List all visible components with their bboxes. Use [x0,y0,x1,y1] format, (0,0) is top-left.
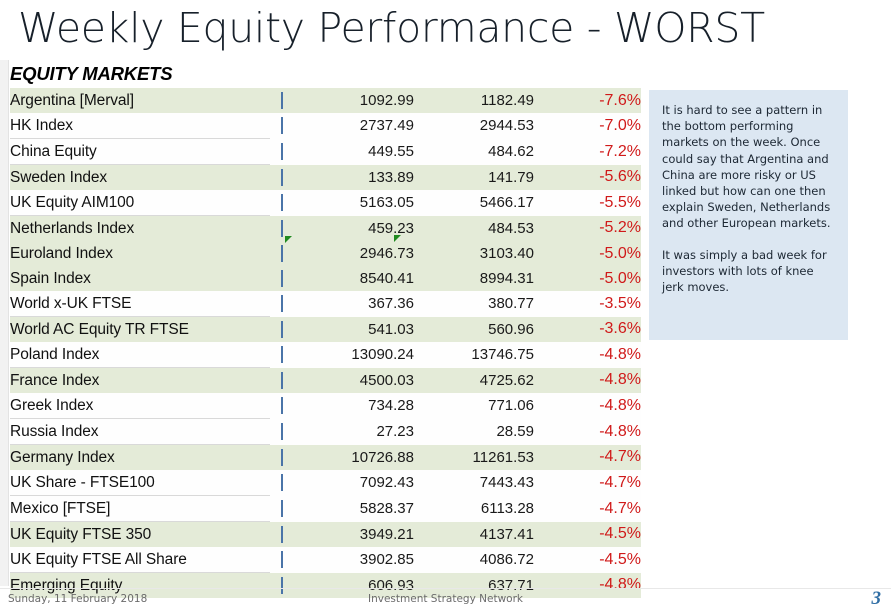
market-name: Spain Index [10,266,270,291]
value-previous: 11261.53 [414,445,534,471]
commentary-paragraph-1: It is hard to see a pattern in the botto… [662,102,835,232]
sparkline-cell [270,241,294,266]
sparkline-tick-icon [281,321,283,338]
sparkline-cell [270,266,294,291]
value-previous: 4725.62 [414,368,534,394]
table-row: Sweden Index133.89141.79-5.6% [10,165,641,191]
sparkline-tick-icon [281,270,283,287]
sparkline-tick-icon [281,449,283,466]
market-name: UK Equity FTSE 350 [10,522,270,548]
value-previous: 6113.28 [414,496,534,522]
market-name: Netherlands Index [10,216,270,242]
sparkline-cell [270,393,294,419]
value-current: 5163.05 [294,190,414,216]
value-previous: 8994.31 [414,266,534,291]
change-percent: -5.2% [534,216,641,242]
change-percent: -4.8% [534,419,641,445]
change-percent: -3.6% [534,317,641,343]
value-previous: 13746.75 [414,342,534,368]
sparkline-tick-icon [281,372,283,389]
footer-divider [0,588,891,589]
table-row: Russia Index27.2328.59-4.8% [10,419,641,445]
value-previous: 2944.53 [414,113,534,139]
sparkline-cell [270,445,294,471]
table-row: UK Equity FTSE All Share3902.854086.72-4… [10,547,641,573]
value-current: 2946.73 [294,241,414,266]
change-percent: -5.5% [534,190,641,216]
market-name: Argentina [Merval] [10,88,270,113]
value-previous: 28.59 [414,419,534,445]
sparkline-tick-icon [281,295,283,312]
equity-markets-table: EQUITY MARKETS Argentina [Merval]1092.99… [10,60,641,598]
table-row: Mexico [FTSE]5828.376113.28-4.7% [10,496,641,522]
value-current: 5828.37 [294,496,414,522]
change-percent: -4.7% [534,470,641,496]
change-percent: -5.6% [534,165,641,191]
sparkline-cell [270,522,294,548]
value-current: 449.55 [294,139,414,165]
sparkline-cell [270,470,294,496]
value-current: 133.89 [294,165,414,191]
market-name: China Equity [10,139,270,165]
market-name: Sweden Index [10,165,270,191]
footer-center-text: Investment Strategy Network [0,593,891,605]
table-row: Greek Index734.28771.06-4.8% [10,393,641,419]
value-previous: 3103.40 [414,241,534,266]
market-name: UK Equity FTSE All Share [10,547,270,573]
change-percent: -3.5% [534,291,641,317]
sparkline-cell [270,113,294,139]
value-current: 4500.03 [294,368,414,394]
table-row: Poland Index13090.2413746.75-4.8% [10,342,641,368]
table-header-label: EQUITY MARKETS [10,60,270,88]
value-current: 13090.24 [294,342,414,368]
sparkline-tick-icon [281,551,283,568]
value-current: 3902.85 [294,547,414,573]
change-percent: -5.0% [534,241,641,266]
value-current: 367.36 [294,291,414,317]
value-current: 8540.41 [294,266,414,291]
change-percent: -4.7% [534,496,641,522]
value-current: 27.23 [294,419,414,445]
value-current: 10726.88 [294,445,414,471]
market-name: Russia Index [10,419,270,445]
sparkline-tick-icon [281,169,283,186]
table-row: China Equity449.55484.62-7.2% [10,139,641,165]
table-header-row: EQUITY MARKETS [10,60,641,88]
table-header-value-prev-cell [414,60,534,88]
table-row: Euroland Index2946.733103.40-5.0% [10,241,641,266]
value-previous: 484.53 [414,216,534,242]
sparkline-tick-icon [281,500,283,517]
left-gutter-stripe [0,60,9,586]
sparkline-tick-icon [281,397,283,414]
sparkline-cell [270,291,294,317]
market-name: Greek Index [10,393,270,419]
value-previous: 141.79 [414,165,534,191]
market-name: World AC Equity TR FTSE [10,317,270,343]
table-row: France Index4500.034725.62-4.8% [10,368,641,394]
sparkline-cell [270,317,294,343]
market-name: UK Equity AIM100 [10,190,270,216]
sparkline-tick-icon [281,474,283,491]
commentary-box: It is hard to see a pattern in the botto… [649,90,848,340]
table-row: Spain Index8540.418994.31-5.0% [10,266,641,291]
change-percent: -7.2% [534,139,641,165]
value-current: 541.03 [294,317,414,343]
change-percent: -4.8% [534,368,641,394]
sparkline-tick-icon [281,346,283,363]
market-name: UK Share - FTSE100 [10,470,270,496]
value-previous: 484.62 [414,139,534,165]
table-header-change-cell [534,60,641,88]
table-header-value-now-cell [294,60,414,88]
value-previous: 1182.49 [414,88,534,113]
table-row: World AC Equity TR FTSE541.03560.96-3.6% [10,317,641,343]
value-previous: 560.96 [414,317,534,343]
value-current: 734.28 [294,393,414,419]
sparkline-tick-icon [281,194,283,211]
value-previous: 771.06 [414,393,534,419]
market-name: Poland Index [10,342,270,368]
value-previous: 4137.41 [414,522,534,548]
value-current: 2737.49 [294,113,414,139]
sparkline-cell [270,547,294,573]
value-current: 3949.21 [294,522,414,548]
commentary-paragraph-2: It was simply a bad week for investors w… [662,247,835,296]
value-current: 7092.43 [294,470,414,496]
market-name: HK Index [10,113,270,139]
sparkline-tick-icon [281,143,283,160]
table-row: Argentina [Merval]1092.991182.49-7.6% [10,88,641,113]
table-row: UK Equity FTSE 3503949.214137.41-4.5% [10,522,641,548]
market-name: Mexico [FTSE] [10,496,270,522]
sparkline-cell [270,216,294,242]
table-row: Netherlands Index459.23484.53-5.2% [10,216,641,242]
sparkline-tick-icon [281,220,283,237]
value-previous: 5466.17 [414,190,534,216]
sparkline-tick-icon [281,577,283,594]
sparkline-cell [270,342,294,368]
value-previous: 4086.72 [414,547,534,573]
value-current: 459.23 [294,216,414,242]
table-row: HK Index2737.492944.53-7.0% [10,113,641,139]
market-name: Euroland Index [10,241,270,266]
sparkline-tick-icon [281,526,283,543]
sparkline-cell [270,368,294,394]
change-percent: -4.8% [534,393,641,419]
sparkline-cell [270,190,294,216]
sparkline-tick-icon [281,92,283,109]
change-percent: -4.5% [534,547,641,573]
table-row: UK Share - FTSE1007092.437443.43-4.7% [10,470,641,496]
page-title: Weekly Equity Performance - WORST [18,2,873,54]
market-name: World x-UK FTSE [10,291,270,317]
sparkline-cell [270,139,294,165]
change-percent: -7.6% [534,88,641,113]
sparkline-cell [270,496,294,522]
sparkline-tick-icon [281,423,283,440]
change-percent: -7.0% [534,113,641,139]
value-current: 1092.99 [294,88,414,113]
sparkline-cell [270,88,294,113]
table-row: World x-UK FTSE367.36380.77-3.5% [10,291,641,317]
sparkline-tick-icon [281,245,283,262]
change-percent: -4.5% [534,522,641,548]
change-percent: -4.8% [534,342,641,368]
sparkline-tick-icon [281,117,283,134]
sparkline-cell [270,419,294,445]
value-previous: 7443.43 [414,470,534,496]
market-name: France Index [10,368,270,394]
table-row: Germany Index10726.8811261.53-4.7% [10,445,641,471]
table-header-spark-cell [270,60,294,88]
market-name: Germany Index [10,445,270,471]
change-percent: -5.0% [534,266,641,291]
sparkline-cell [270,165,294,191]
value-previous: 380.77 [414,291,534,317]
change-percent: -4.7% [534,445,641,471]
table-row: UK Equity AIM1005163.055466.17-5.5% [10,190,641,216]
footer-page-number: 3 [872,588,882,610]
